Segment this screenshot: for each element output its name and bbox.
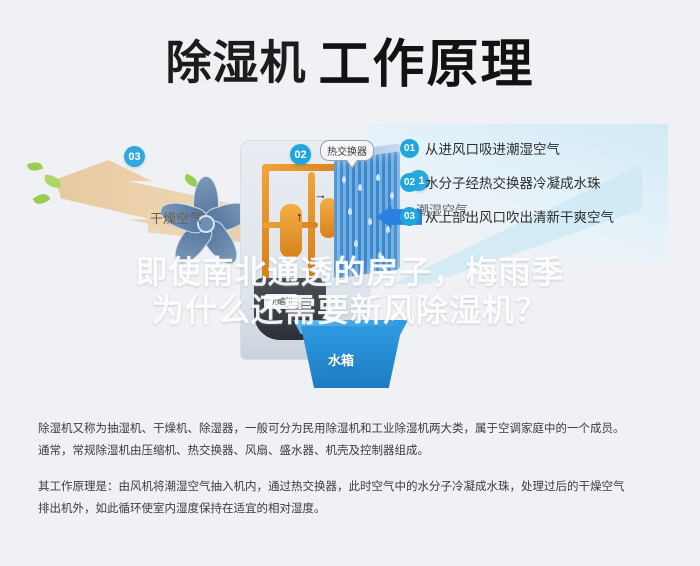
body-paragraph-4: 排出机外，如此循环使室内湿度保持在适宜的相对湿度。 bbox=[38, 498, 666, 520]
water-droplet-icon bbox=[378, 252, 382, 259]
flow-arrow-right-icon: → bbox=[314, 188, 327, 201]
diagram-badge-02: 02 bbox=[290, 144, 311, 165]
compressor-label: 压缩机 bbox=[264, 294, 298, 309]
leaf-icon bbox=[32, 191, 50, 208]
body-paragraph-3: 其工作原理是：由风机将潮湿空气抽入机内，通过热交换器，此时空气中的水分子冷凝成水… bbox=[38, 476, 666, 498]
page-title-part1: 除湿机 bbox=[165, 37, 306, 89]
page-title: 除湿机工作原理 bbox=[0, 22, 700, 97]
step-text: 从上部出风口吹出清新干爽空气 bbox=[425, 206, 614, 226]
step-text: 水分子经热交换器冷凝成水珠 bbox=[425, 172, 601, 192]
page-title-part2: 工作原理 bbox=[318, 36, 534, 94]
water-droplet-icon bbox=[344, 262, 348, 269]
body-paragraph-2: 通常，常规除湿机由压缩机、热交换器、风扇、盛水器、机壳及控制器组成。 bbox=[38, 440, 666, 462]
water-droplet-icon bbox=[342, 176, 346, 183]
water-droplet-icon bbox=[376, 174, 380, 181]
water-droplet-icon bbox=[354, 240, 358, 247]
step-number-badge: 01 bbox=[400, 139, 419, 158]
water-droplet-icon bbox=[358, 184, 362, 191]
water-droplet-icon bbox=[386, 226, 390, 233]
dry-air-label: 干燥空气 bbox=[150, 208, 202, 227]
diagram-badge-03: 03 bbox=[124, 146, 145, 167]
step-item-02: 02 水分子经热交换器冷凝成水珠 bbox=[400, 172, 676, 192]
body-paragraph-1: 除湿机又称为抽湿机、干燥机、除湿器，一般可分为民用除湿机和工业除湿机两大类，属于… bbox=[38, 418, 666, 440]
step-number-badge: 03 bbox=[400, 207, 419, 226]
step-number-badge: 02 bbox=[400, 173, 419, 192]
article-body: 除湿机又称为抽湿机、干燥机、除湿器，一般可分为民用除湿机和工业除湿机两大类，属于… bbox=[38, 418, 666, 520]
flow-arrow-up-icon: ↑ bbox=[296, 210, 303, 223]
steps-list: 01 从进风口吸进潮湿空气 02 水分子经热交换器冷凝成水珠 03 从上部出风口… bbox=[400, 138, 676, 240]
water-droplet-icon bbox=[390, 192, 394, 199]
heat-exchanger-callout: 热交换器 bbox=[320, 140, 374, 161]
step-text: 从进风口吸进潮湿空气 bbox=[425, 138, 560, 158]
water-droplet-icon bbox=[368, 218, 372, 225]
water-tank-label: 水箱 bbox=[328, 350, 354, 369]
paragraph-spacer bbox=[38, 462, 666, 476]
step-item-01: 01 从进风口吸进潮湿空气 bbox=[400, 138, 676, 158]
leaf-icon bbox=[27, 160, 43, 173]
step-item-03: 03 从上部出风口吹出清新干爽空气 bbox=[400, 206, 676, 226]
leaf-icon bbox=[43, 174, 62, 188]
water-droplet-icon bbox=[348, 208, 352, 215]
